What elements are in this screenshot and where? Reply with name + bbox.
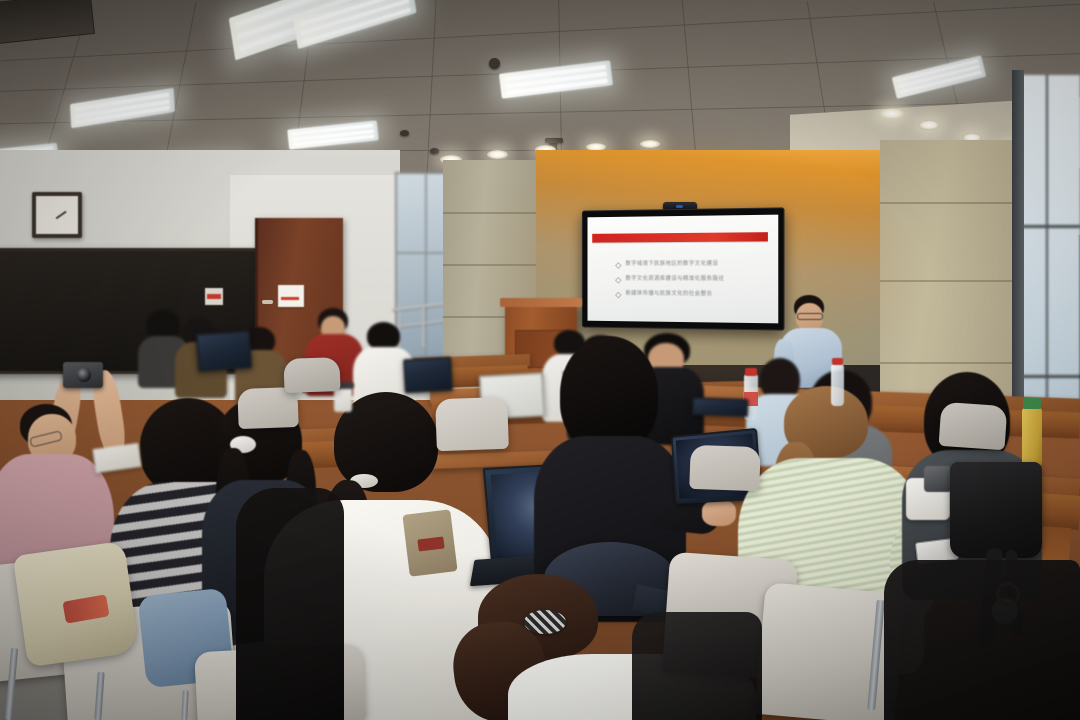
downlight [640,140,660,148]
lectern-top [500,298,582,307]
bottle-cap [832,358,843,365]
thermos-cup [924,466,952,492]
downlight [880,108,904,119]
slide-content: 数字域境下民族地区的数字文化建设 数字文化资源库建设与精准化服务路径 新媒体传播… [588,215,779,324]
laptop[interactable] [196,330,253,372]
chair[interactable] [283,357,340,393]
water-bottle [831,364,844,406]
foreground-silhouette [884,560,1080,720]
bottle-cap [745,368,757,376]
door-notice-sign [278,285,304,307]
presenter-glasses-icon [797,313,823,320]
studded-hair-tie-icon [524,610,566,634]
camera-lens-icon [77,368,91,382]
wall-clock [32,192,82,238]
downlight [918,120,940,130]
ceiling-mount-arm-icon [545,138,563,143]
tea-bottle [1022,408,1042,466]
handbag[interactable] [950,462,1042,558]
laptop[interactable] [403,357,453,393]
foreground-silhouette [236,488,344,720]
lecture-room-photo: 数字域境下民族地区的数字文化建设 数字文化资源库建设与精准化服务路径 新媒体传播… [0,0,1080,720]
ceiling-speaker-icon [489,58,500,69]
slide-line-3: 新媒体传播与民族文化的社会整合 [626,289,713,298]
tablet-user-hair [560,336,658,452]
tea-bottle-cap [1023,398,1041,409]
door-handle[interactable] [262,300,273,304]
presentation-display[interactable]: 数字域境下民族地区的数字文化建设 数字文化资源库建设与精准化服务路径 新媒体传播… [582,207,785,330]
slide-line-1: 数字域境下民族地区的数字文化建设 [626,259,719,267]
ceiling-sensor-icon [430,148,439,154]
ceiling-sensor-icon [400,130,409,136]
foreground-silhouette [632,612,762,720]
downlight [487,150,508,159]
chair[interactable] [435,397,509,451]
wall-notice-sign [205,288,223,305]
tablet-user-hand [702,500,736,526]
laptop[interactable] [692,397,749,417]
slide-line-2: 数字文化资源库建设与精准化服务路径 [626,274,725,282]
chair[interactable] [939,402,1008,450]
chair[interactable] [237,387,298,429]
chair[interactable] [689,445,760,491]
slide-accent-bar [592,232,768,242]
